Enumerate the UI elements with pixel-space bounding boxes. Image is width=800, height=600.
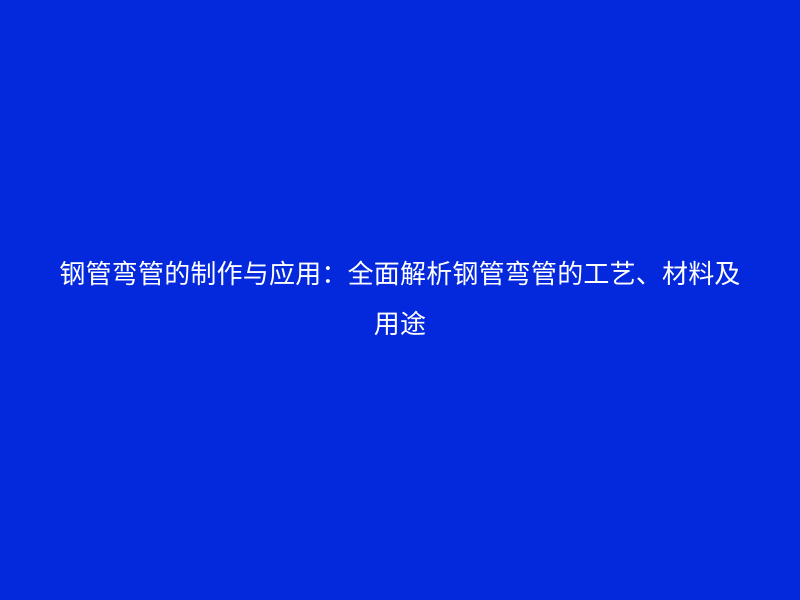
page-title: 钢管弯管的制作与应用：全面解析钢管弯管的工艺、材料及用途 bbox=[54, 250, 746, 350]
title-slide: 钢管弯管的制作与应用：全面解析钢管弯管的工艺、材料及用途 bbox=[0, 0, 800, 600]
title-block: 钢管弯管的制作与应用：全面解析钢管弯管的工艺、材料及用途 bbox=[50, 250, 750, 350]
